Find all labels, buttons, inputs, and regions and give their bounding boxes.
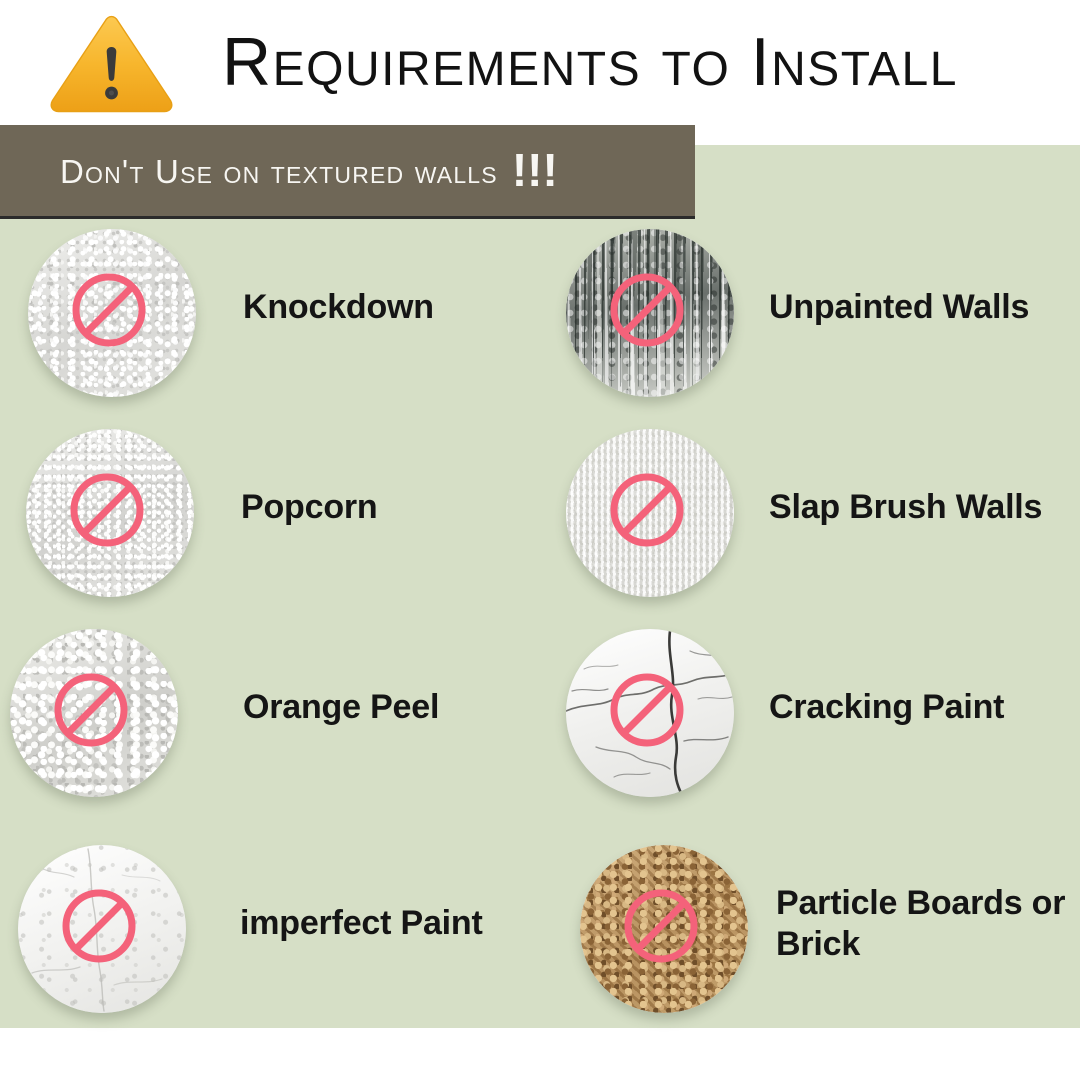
- list-item: Particle Boards or Brick: [580, 845, 1070, 1013]
- list-item: Orange Peel: [10, 629, 490, 797]
- list-item-label: Slap Brush Walls: [769, 487, 1069, 528]
- list-item-label: imperfect Paint: [240, 903, 525, 944]
- infographic-root: Requirements to Install Don't Use on tex…: [0, 0, 1080, 1080]
- prohibition-icon: [60, 887, 138, 965]
- page-title: Requirements to Install: [222, 16, 1022, 108]
- prohibition-icon: [68, 471, 146, 549]
- warning-triangle-icon: [44, 14, 178, 114]
- list-item: imperfect Paint: [18, 845, 498, 1013]
- list-item: Cracking Paint: [566, 629, 1066, 797]
- prohibition-icon: [608, 671, 686, 749]
- list-item-label: Particle Boards or Brick: [776, 883, 1076, 965]
- prohibition-icon: [622, 887, 700, 965]
- list-item-label: Cracking Paint: [769, 687, 1069, 728]
- header: Requirements to Install: [0, 0, 1080, 125]
- list-item: Unpainted Walls: [566, 229, 1066, 397]
- list-item-label: Popcorn: [241, 487, 506, 528]
- prohibition-icon: [608, 271, 686, 349]
- list-item-label: Knockdown: [243, 287, 508, 328]
- list-item: Knockdown: [28, 229, 508, 397]
- list-item-label: Unpainted Walls: [769, 287, 1069, 328]
- list-item: Popcorn: [26, 429, 506, 597]
- prohibition-icon: [70, 271, 148, 349]
- list-item: Slap Brush Walls: [566, 429, 1066, 597]
- prohibition-icon: [52, 671, 130, 749]
- restriction-items-grid: Knockdown Unpainted Walls: [0, 145, 1080, 1028]
- list-item-label: Orange Peel: [243, 687, 508, 728]
- prohibition-icon: [608, 471, 686, 549]
